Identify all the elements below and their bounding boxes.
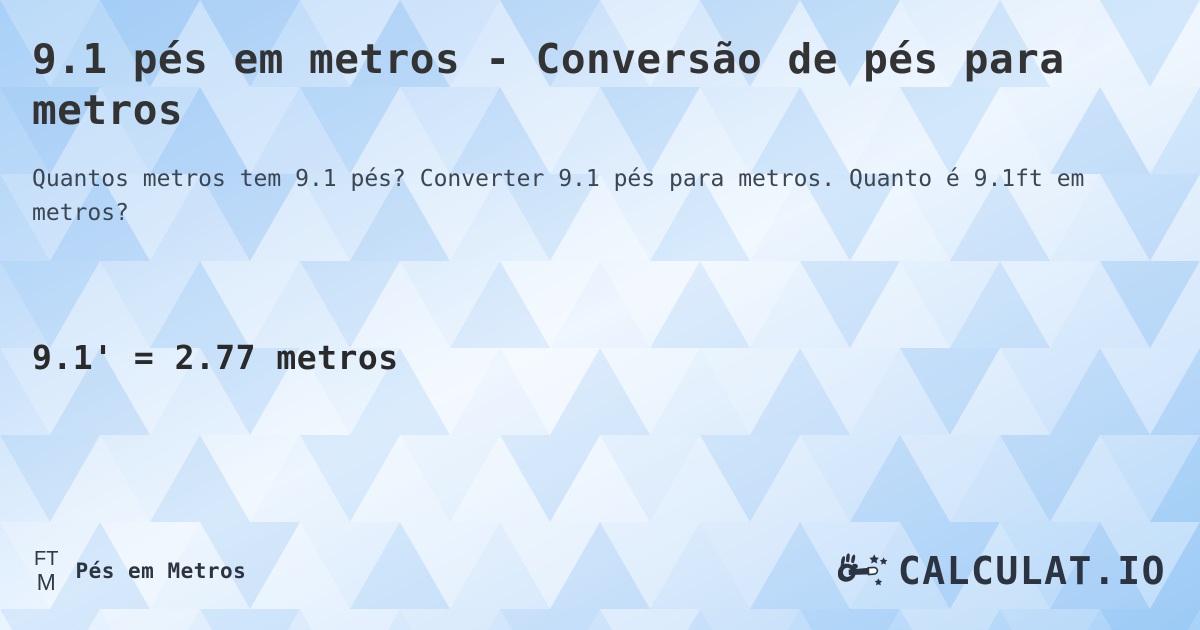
- ft-over-m-denominator: M: [37, 571, 56, 594]
- brand-wordmark: CALCULAT.IO: [898, 552, 1166, 590]
- card-footer: FT M Pés em Metros: [0, 534, 1200, 630]
- footer-converter-info: FT M Pés em Metros: [34, 549, 246, 594]
- conversion-card: 9.1 pés em metros - Conversão de pés par…: [0, 0, 1200, 630]
- converter-name: Pés em Metros: [75, 559, 246, 583]
- conversion-result-text: 9.1' = 2.77 metros: [32, 338, 399, 377]
- ft-over-m-icon: FT M: [34, 549, 58, 594]
- page-description: Quantos metros tem 9.1 pés? Converter 9.…: [32, 136, 1152, 231]
- brand-logo[interactable]: CALCULAT.IO: [838, 551, 1166, 591]
- page-title: 9.1 pés em metros - Conversão de pés par…: [32, 34, 1142, 136]
- ft-over-m-numerator: FT: [34, 549, 58, 569]
- conversion-result: 9.1' = 2.77 metros: [32, 338, 399, 377]
- magic-wand-hand-icon: [838, 551, 892, 591]
